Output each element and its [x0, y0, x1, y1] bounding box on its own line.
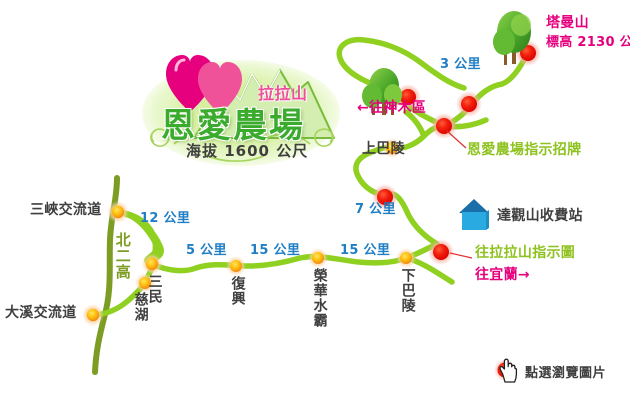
label-to-yilan: 往宜蘭→	[475, 268, 530, 284]
label-distance-7km: 7 公里	[355, 203, 396, 218]
label-farm-signboard: 恩愛農場指示招牌	[467, 143, 581, 159]
hand-pointer-icon	[497, 358, 521, 384]
label-distance-5km: 5 公里	[186, 244, 227, 259]
route-map: 拉拉山 恩愛農場 海拔 1600 公尺 塔曼山 標高 2130 公尺 3 公里 …	[0, 0, 630, 400]
label-lalashan-map-sign: 往拉拉山指示圖	[475, 246, 575, 262]
leader-line-farm-signboard	[447, 131, 466, 148]
label-ronghua: 榮華水霸	[311, 268, 327, 328]
label-tamanshan-altitude: 標高 2130 公尺	[546, 36, 630, 51]
marker-upper-branch-photo[interactable]	[456, 91, 482, 117]
label-distance-15km-b: 15 公里	[340, 244, 390, 259]
marker-farm-signboard-photo[interactable]	[431, 113, 457, 139]
marker-lalashan-sign-photo[interactable]	[428, 239, 454, 265]
label-distance-12km: 12 公里	[140, 212, 190, 227]
marker-xiabaling[interactable]	[396, 248, 416, 268]
label-fuxing: 復興	[229, 276, 245, 306]
viewer-hint-text: 點選瀏覽圖片	[525, 362, 606, 381]
logo-altitude: 海拔 1600 公尺	[186, 140, 308, 161]
marker-ronghua[interactable]	[308, 248, 328, 268]
label-tamanshan: 塔曼山	[546, 16, 589, 32]
house-icon-toll-station	[459, 199, 489, 230]
marker-fuxing[interactable]	[226, 256, 246, 276]
marker-sanmin[interactable]	[142, 254, 163, 275]
label-sanxia-interchange: 三峽交流道	[30, 203, 102, 219]
label-shangbaling: 上巴陵	[362, 142, 405, 158]
label-cihu: 慈湖	[132, 292, 148, 322]
farm-logo: 拉拉山 恩愛農場 海拔 1600 公尺	[142, 28, 340, 168]
marker-sanxia-interchange[interactable]	[107, 201, 129, 223]
viewer-hint: 點選瀏覽圖片	[497, 358, 606, 384]
label-to-shenmu-area: ←往神木區	[357, 101, 426, 117]
marker-daxi-interchange[interactable]	[82, 304, 104, 326]
label-toll-station: 達觀山收費站	[497, 209, 583, 225]
label-xiabaling: 下巴陵	[399, 268, 415, 313]
label-daxi-interchange: 大溪交流道	[5, 306, 77, 322]
label-national-highway: 北二高	[114, 232, 131, 280]
label-distance-3km: 3 公里	[440, 58, 481, 73]
label-distance-15km-a: 15 公里	[250, 244, 300, 259]
